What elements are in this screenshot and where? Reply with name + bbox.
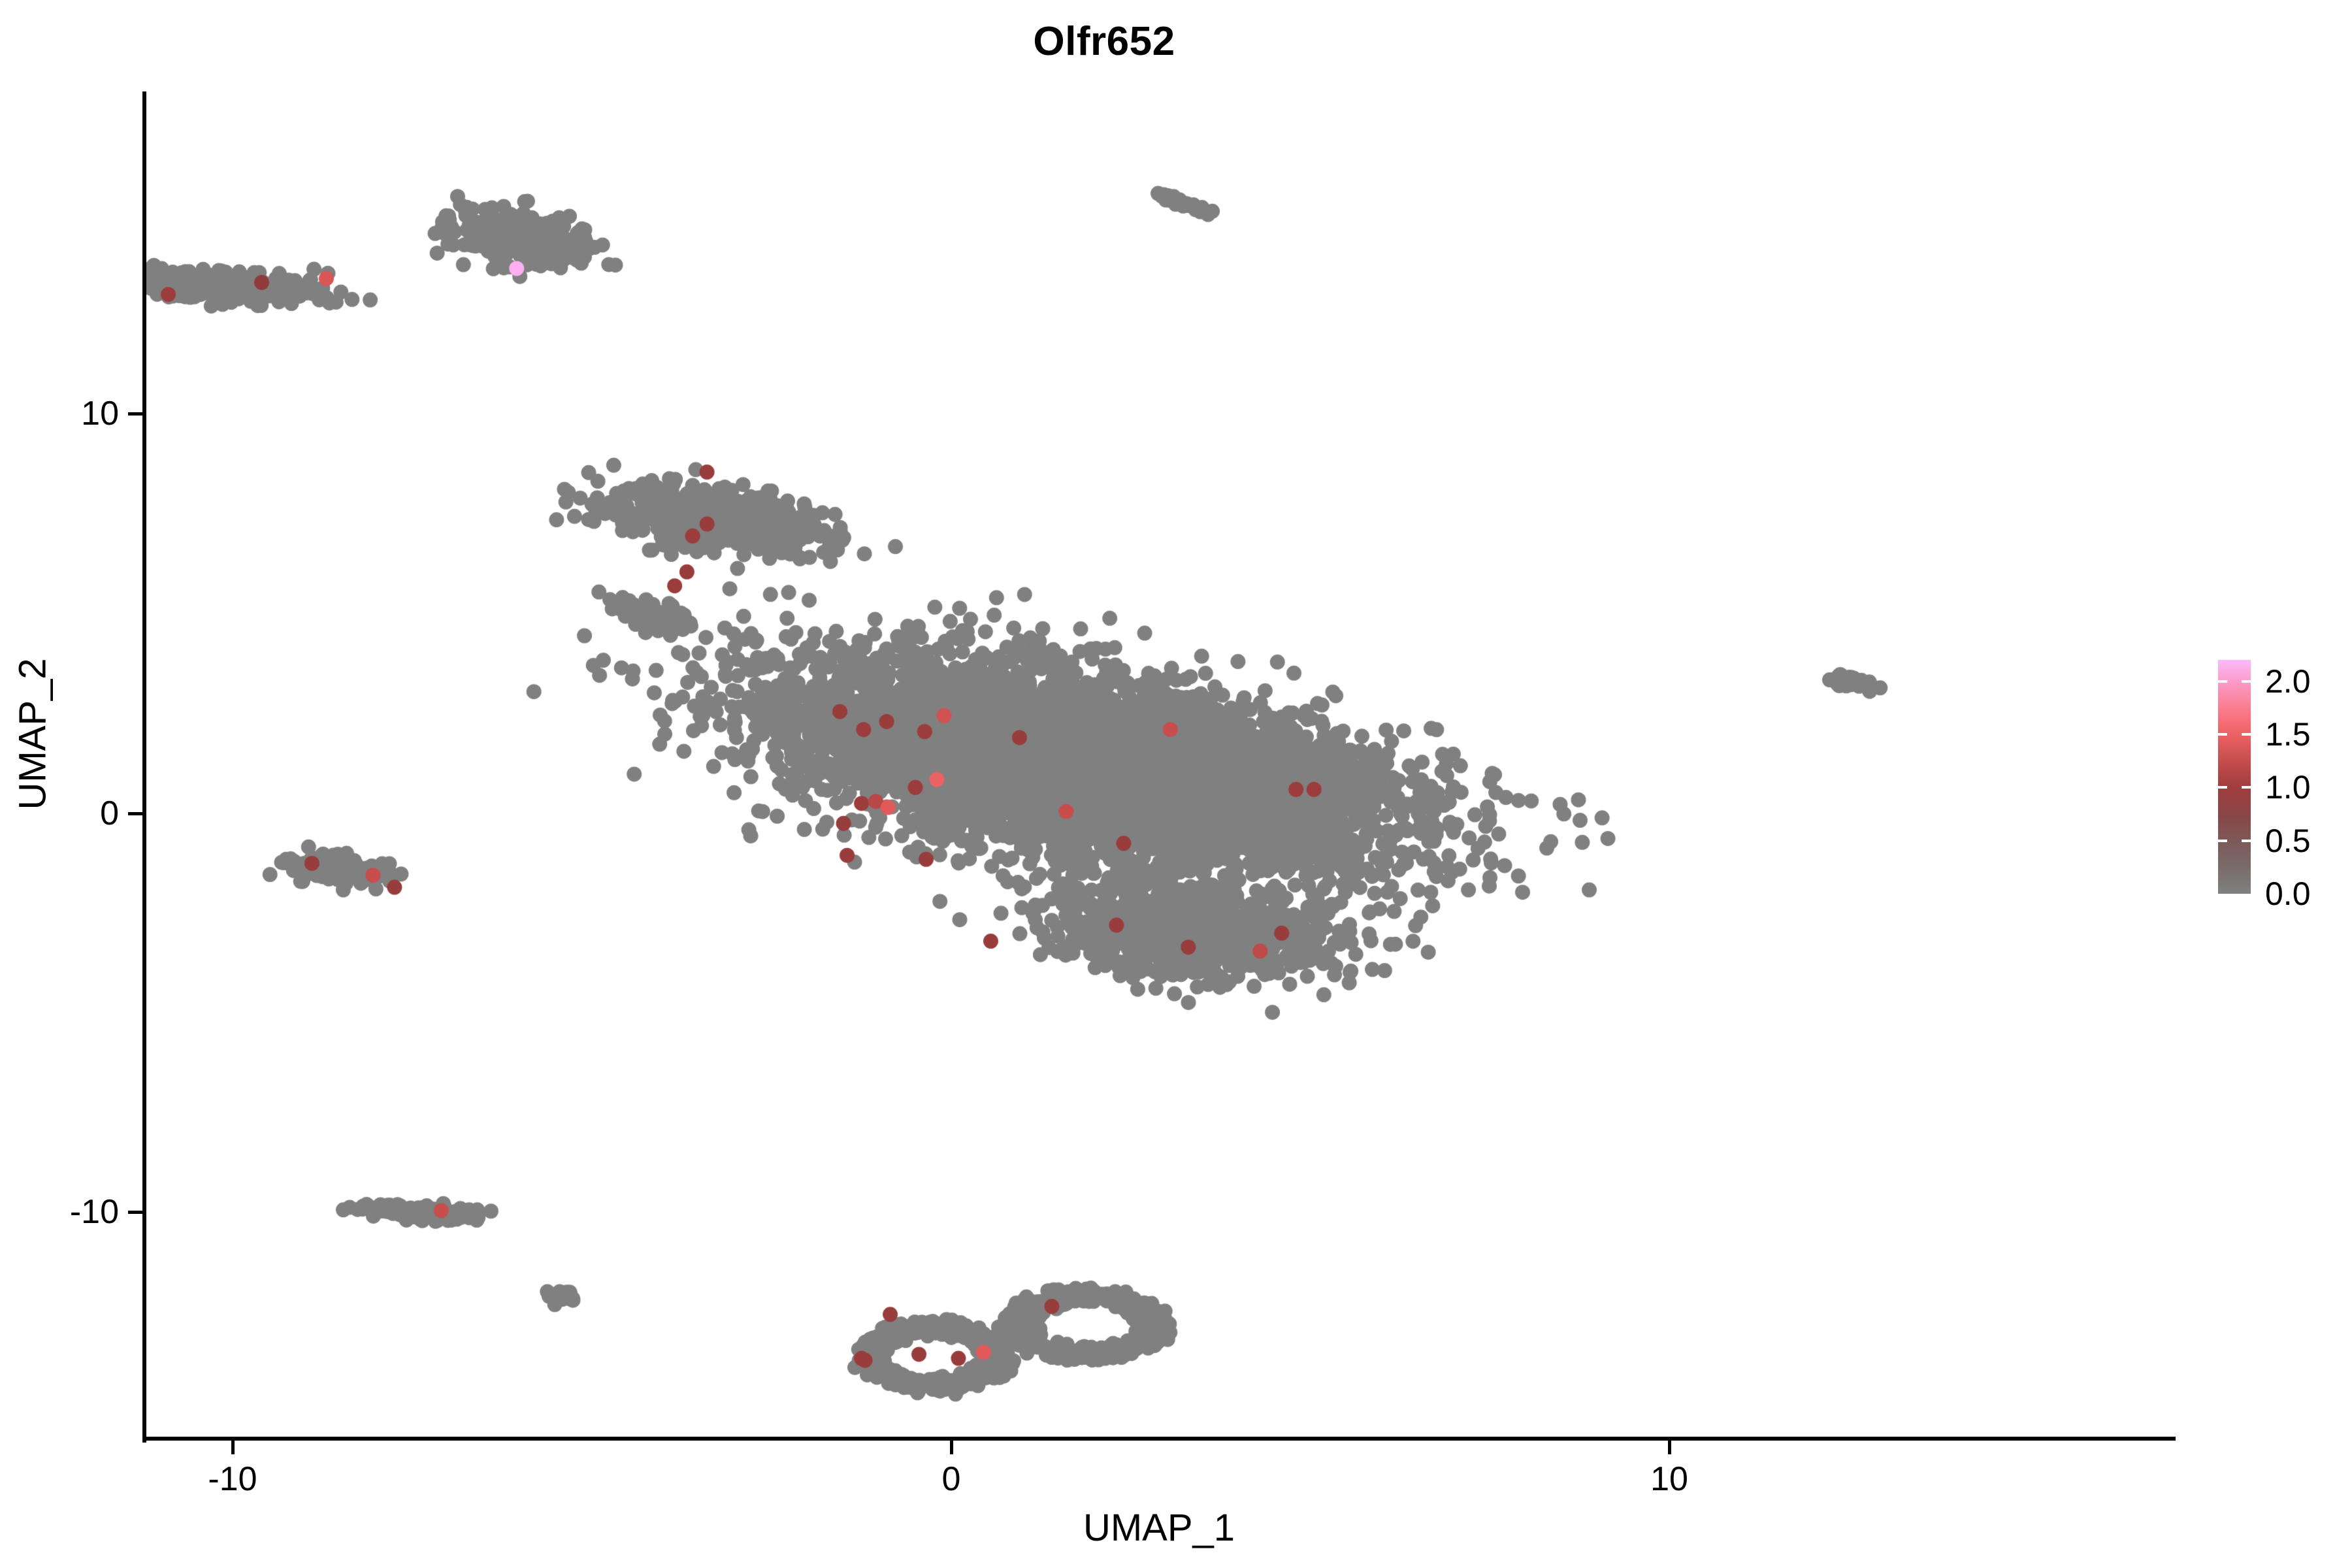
y-tick-mark xyxy=(128,1211,142,1214)
x-tick-label: 10 xyxy=(1650,1460,1688,1499)
color-legend-tick-mark xyxy=(2218,680,2227,683)
color-legend-tick-mark xyxy=(2242,840,2251,842)
color-legend-label: 0.0 xyxy=(2265,875,2311,913)
color-legend-tick-mark xyxy=(2242,733,2251,736)
y-axis-label: UMAP_2 xyxy=(11,506,55,963)
x-tick-mark xyxy=(231,1440,235,1454)
color-legend-label: 0.5 xyxy=(2265,822,2311,860)
color-legend-tick-mark xyxy=(2242,786,2251,789)
scatter-plot-canvas xyxy=(144,91,2176,1439)
x-tick-label: 0 xyxy=(942,1460,961,1499)
plot-panel xyxy=(144,91,2176,1439)
x-tick-label: -10 xyxy=(208,1460,257,1499)
feature-plot-figure: Olfr652 100-10 -10010 UMAP_1 UMAP_2 2.01… xyxy=(0,0,2352,1568)
y-tick-mark xyxy=(128,412,142,416)
y-tick-label: 0 xyxy=(100,794,119,833)
x-tick-mark xyxy=(1668,1440,1671,1454)
color-legend-tick-mark xyxy=(2218,786,2227,789)
y-tick-label: 10 xyxy=(81,394,119,433)
color-legend-tick-mark xyxy=(2218,733,2227,736)
x-axis-label: UMAP_1 xyxy=(142,1506,2176,1550)
x-axis-line xyxy=(142,1437,2176,1441)
color-legend-tick-mark xyxy=(2218,840,2227,842)
x-tick-mark xyxy=(950,1440,953,1454)
page-title: Olfr652 xyxy=(0,18,2208,65)
y-tick-label: -10 xyxy=(70,1192,119,1232)
color-legend-label: 2.0 xyxy=(2265,662,2311,700)
color-legend-label: 1.0 xyxy=(2265,768,2311,806)
color-legend-tick-mark xyxy=(2242,680,2251,683)
y-tick-mark xyxy=(128,812,142,815)
y-axis-line xyxy=(142,91,146,1443)
color-legend-label: 1.5 xyxy=(2265,715,2311,753)
color-legend-gradient-bar xyxy=(2218,660,2251,894)
color-legend: 2.01.51.00.50.0 xyxy=(2218,660,2336,902)
